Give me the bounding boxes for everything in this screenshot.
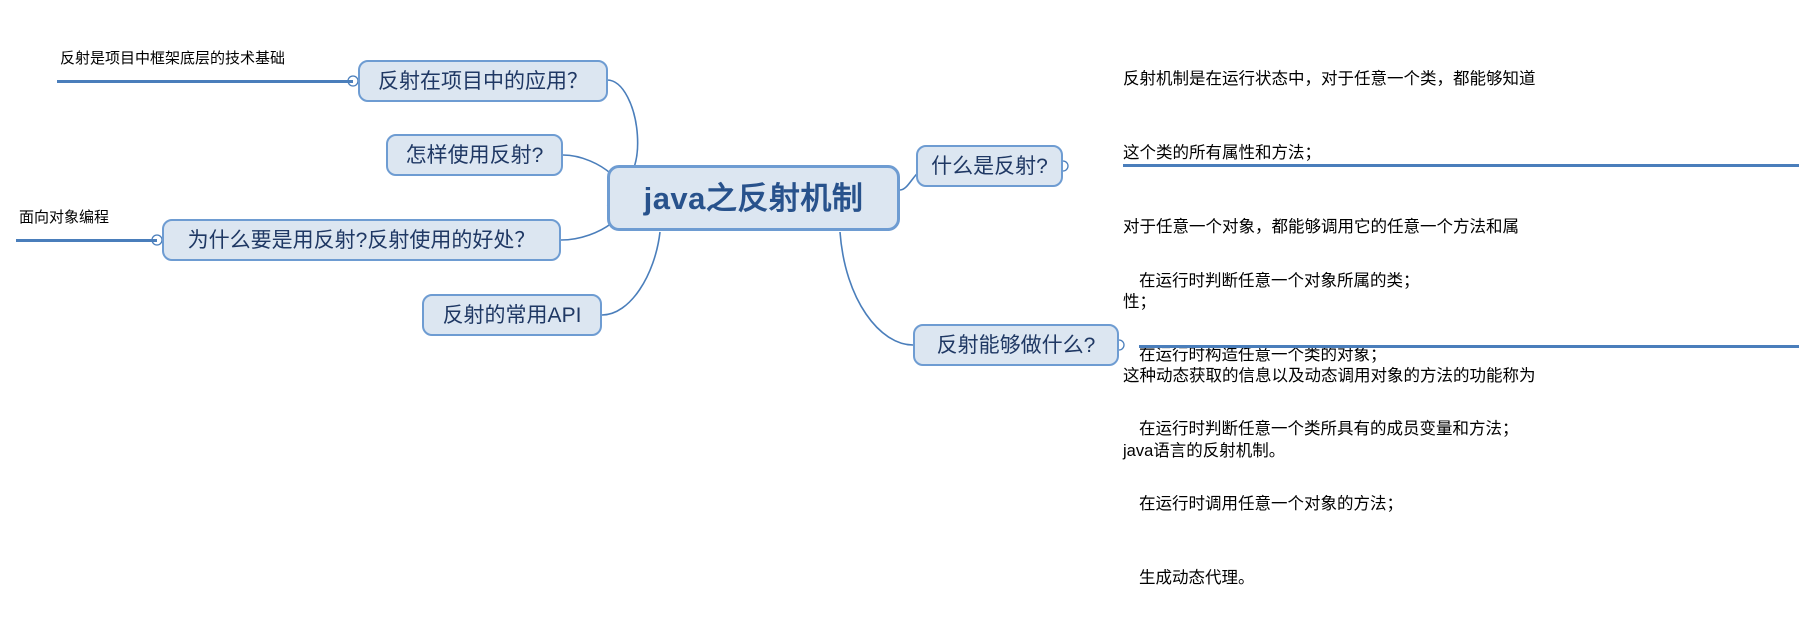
- branch-node-why-use-reflection[interactable]: 为什么要是用反射?反射使用的好处？: [162, 219, 561, 261]
- detail-line: 生成动态代理。: [1139, 566, 1799, 591]
- detail-rule-right-1: [1123, 164, 1799, 167]
- edge-central-left-4: [602, 232, 660, 315]
- detail-line: 反射机制是在运行状态中，对于任意一个类，都能够知道: [1123, 67, 1799, 92]
- central-node[interactable]: java之反射机制: [607, 165, 900, 231]
- annotation-rule-left-1: [57, 80, 353, 83]
- branch-label: 怎样使用反射?: [406, 145, 544, 166]
- branch-label: 反射在项目中的应用？: [378, 71, 588, 92]
- central-node-label: java之反射机制: [644, 183, 864, 214]
- detail-line: 在运行时判断任意一个类所具有的成员变量和方法；: [1139, 417, 1799, 442]
- branch-node-common-reflection-api[interactable]: 反射的常用API: [422, 294, 602, 336]
- mindmap-canvas: java之反射机制 反射在项目中的应用？ 怎样使用反射? 为什么要是用反射?反射…: [0, 0, 1799, 435]
- branch-label: 为什么要是用反射?反射使用的好处？: [188, 230, 536, 251]
- detail-block-what-can-reflection-do: 在运行时判断任意一个对象所属的类； 在运行时构造任意一个类的对象； 在运行时判断…: [1139, 219, 1799, 641]
- branch-node-what-is-reflection[interactable]: 什么是反射?: [916, 145, 1063, 187]
- annotation-object-oriented-programming: 面向对象编程: [19, 210, 109, 225]
- detail-line: 在运行时判断任意一个对象所属的类；: [1139, 269, 1799, 294]
- edge-central-right-2: [840, 232, 913, 345]
- detail-line: 在运行时调用任意一个对象的方法；: [1139, 492, 1799, 517]
- branch-label: 反射能够做什么?: [937, 335, 1096, 356]
- annotation-rule-left-2: [16, 239, 157, 242]
- branch-node-reflection-in-projects[interactable]: 反射在项目中的应用？: [358, 60, 608, 102]
- branch-node-how-to-use-reflection[interactable]: 怎样使用反射?: [386, 134, 563, 176]
- detail-line: 这个类的所有属性和方法；: [1123, 141, 1799, 166]
- branch-node-what-can-reflection-do[interactable]: 反射能够做什么?: [913, 324, 1119, 366]
- branch-label: 什么是反射?: [931, 156, 1048, 177]
- detail-rule-right-2: [1139, 345, 1799, 348]
- annotation-reflection-framework-basis: 反射是项目中框架底层的技术基础: [60, 51, 285, 66]
- branch-label: 反射的常用API: [443, 305, 582, 326]
